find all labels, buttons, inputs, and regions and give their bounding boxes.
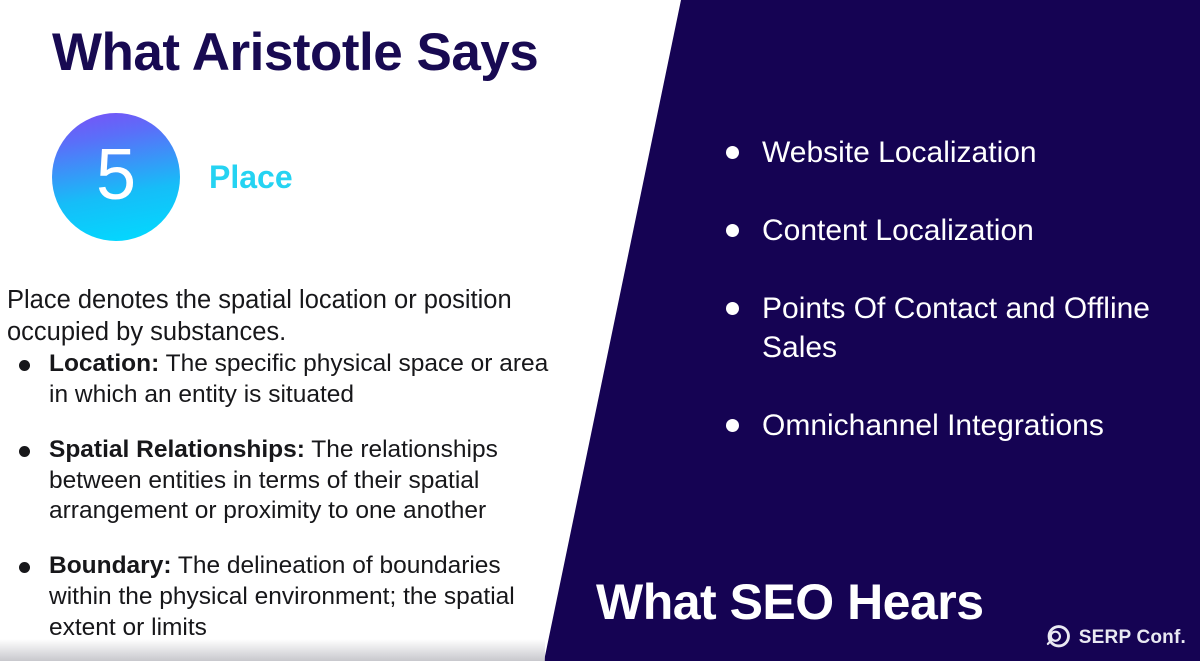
bullet-dot-icon bbox=[726, 146, 739, 159]
list-item-term: Location: bbox=[49, 350, 159, 377]
step-number-badge: 5 bbox=[52, 113, 180, 241]
step-category-label: Place bbox=[209, 159, 293, 196]
list-item-label: Content Localization bbox=[762, 214, 1034, 247]
list-item-label: Points Of Contact and Offline Sales bbox=[762, 292, 1150, 364]
list-item: Omnichannel Integrations bbox=[724, 406, 1194, 445]
logo-wordmark: SERP Conf. bbox=[1079, 627, 1186, 649]
step-number-value: 5 bbox=[96, 139, 136, 211]
list-item-label: Website Localization bbox=[762, 136, 1037, 169]
list-item: Content Localization bbox=[724, 211, 1194, 250]
list-item: Location: The specific physical space or… bbox=[7, 349, 552, 411]
bullet-dot-icon bbox=[726, 302, 739, 315]
page-title: What Aristotle Says bbox=[52, 22, 538, 83]
list-item: Points Of Contact and Offline Sales bbox=[724, 289, 1194, 367]
serp-conf-logo: SERP Conf. bbox=[1044, 624, 1186, 651]
list-item-term: Boundary: bbox=[49, 552, 172, 579]
bullet-dot-icon bbox=[19, 446, 30, 457]
bullet-dot-icon bbox=[726, 224, 739, 237]
presentation-slide: What Aristotle Says 5 Place Place denote… bbox=[0, 0, 1200, 661]
bullet-dot-icon bbox=[19, 562, 30, 573]
list-item: Website Localization bbox=[724, 133, 1194, 172]
list-item-label: Omnichannel Integrations bbox=[762, 409, 1104, 442]
bullet-dot-icon bbox=[726, 419, 739, 432]
step-badge-row: 5 Place bbox=[52, 113, 293, 241]
list-item: Spatial Relationships: The relationships… bbox=[7, 435, 552, 528]
right-panel-heading: What SEO Hears bbox=[596, 573, 984, 631]
bullet-dot-icon bbox=[19, 360, 30, 371]
left-white-panel: What Aristotle Says 5 Place Place denote… bbox=[0, 0, 690, 661]
list-item-term: Spatial Relationships: bbox=[49, 436, 305, 463]
magnifier-circle-icon bbox=[1044, 624, 1071, 651]
seo-interpretation-list: Website Localization Content Localizatio… bbox=[724, 133, 1194, 484]
aristotle-attribute-list: Location: The specific physical space or… bbox=[7, 349, 552, 661]
definition-paragraph: Place denotes the spatial location or po… bbox=[7, 284, 537, 348]
list-item: Boundary: The delineation of boundaries … bbox=[7, 551, 552, 644]
